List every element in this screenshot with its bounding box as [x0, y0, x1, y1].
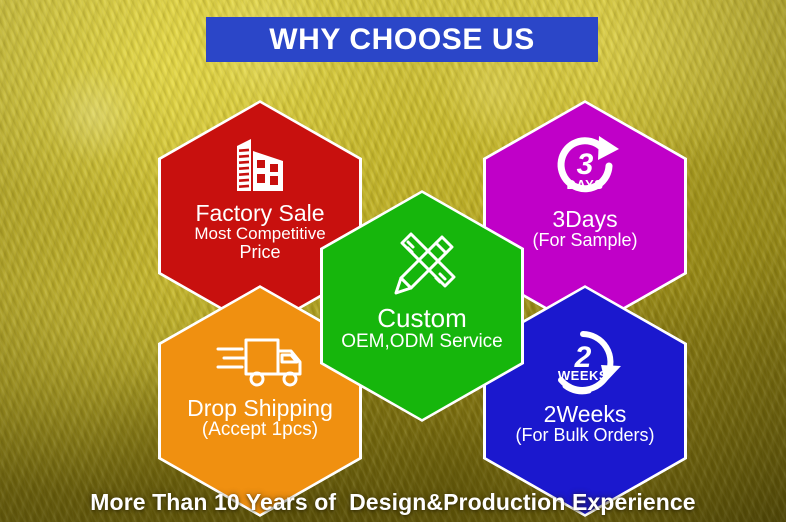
hexagon-label: 2Weeks (For Bulk Orders): [505, 402, 664, 445]
page-title: WHY CHOOSE US: [269, 23, 535, 57]
hexagon-subtitle: (For Bulk Orders): [515, 426, 654, 445]
title-banner: WHY CHOOSE US: [206, 17, 598, 62]
three-days-cycle-icon: 3 DAYS: [541, 129, 629, 207]
pencil-ruler-icon: [380, 225, 464, 305]
icon-unit: WEEKS: [558, 368, 608, 383]
hexagon-subtitle: Most Competitive: [194, 225, 325, 243]
hexagon-title: Custom: [341, 305, 503, 332]
footer-caption: More Than 10 Years of Design&Production …: [0, 489, 786, 516]
two-weeks-cycle-icon: 2 WEEKS: [539, 324, 631, 402]
hexagon-subtitle: OEM,ODM Service: [341, 332, 503, 352]
hexagon-label: 3Days (For Sample): [522, 207, 647, 250]
icon-unit: DAYS: [567, 177, 604, 192]
hexagon-label: Drop Shipping (Accept 1pcs): [177, 396, 343, 440]
infographic-canvas: WHY CHOOSE US: [0, 0, 786, 522]
hexagon-title: 2Weeks: [515, 402, 654, 426]
delivery-truck-icon: [212, 324, 308, 396]
hexagon-label: Factory Sale Most Competitive Price: [184, 201, 335, 262]
hexagon-title: 3Days: [532, 207, 637, 231]
hexagon-label: Custom OEM,ODM Service: [331, 305, 513, 352]
hexagon-title: Factory Sale: [194, 201, 325, 225]
hexagon-subtitle: (Accept 1pcs): [187, 420, 333, 440]
hexagon-subtitle: (For Sample): [532, 231, 637, 250]
hexagon-title: Drop Shipping: [187, 396, 333, 420]
factory-building-icon: [221, 127, 299, 201]
hexagon-subtitle-2: Price: [194, 243, 325, 262]
